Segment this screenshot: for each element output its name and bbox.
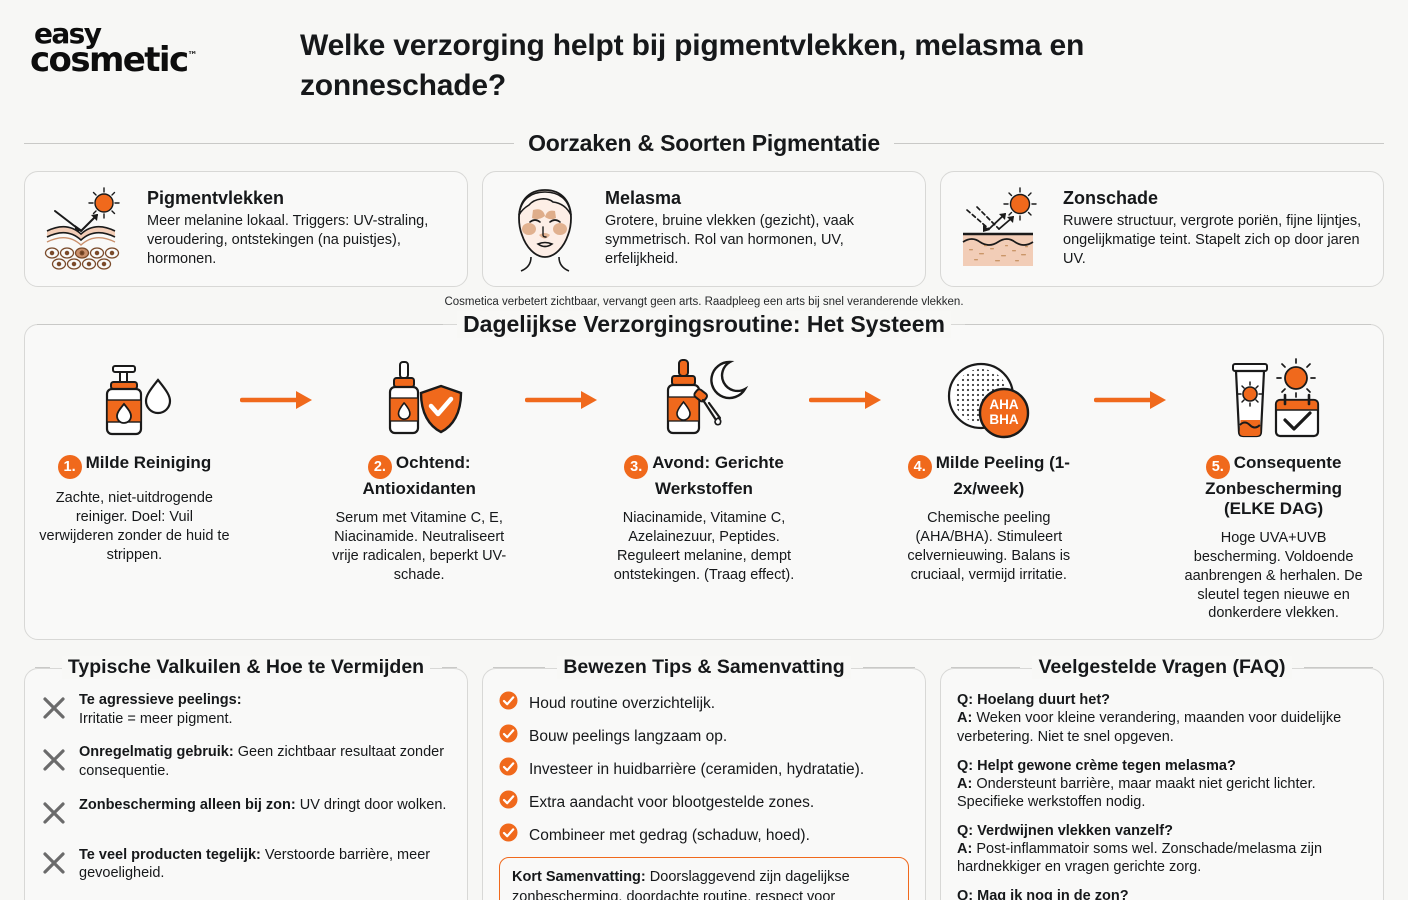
routine-step-title: 5.Consequente Zonbescherming (ELKE DAG) <box>1178 453 1369 519</box>
pitfall-detail: Irritatie = meer pigment. <box>79 711 233 727</box>
step-number-badge: 1. <box>58 455 82 479</box>
step-title-text: Avond: Gerichte Werkstoffen <box>652 453 784 498</box>
cause-description: Grotere, bruine vlekken (gezicht), vaak … <box>605 212 909 269</box>
x-mark-icon <box>41 796 67 831</box>
cause-card-zonschade: Zonschade Ruwere structuur, vergrote por… <box>940 171 1384 287</box>
serum-shield-icon <box>324 357 515 443</box>
pitfall-text: Onregelmatig gebruik: Geen zichtbaar res… <box>79 743 451 780</box>
cleanser-pump-bottle-icon <box>39 357 230 443</box>
faq-answer: A: Ondersteunt barrière, maar maakt niet… <box>957 775 1367 811</box>
cause-card-text: Melasma Grotere, bruine vlekken (gezicht… <box>605 186 909 269</box>
heading-rule-right <box>1304 667 1373 668</box>
cause-title: Melasma <box>605 188 909 209</box>
arrow-right-icon <box>234 357 320 443</box>
routine-heading-label: Dagelijkse Verzorgingsroutine: Het Syste… <box>457 311 951 338</box>
faq-question: Q: Helpt gewone crème tegen melasma? <box>957 757 1367 775</box>
tips-list: Houd routine overzichtelijk.Bouw peeling… <box>499 691 909 847</box>
routine-step-3: 3.Avond: Gerichte Werkstoffen Niacinamid… <box>605 357 804 584</box>
cause-title: Zonschade <box>1063 188 1367 209</box>
faq-item: Q: Hoelang duurt het?A: Weken voor klein… <box>957 691 1367 745</box>
pitfall-label: Te veel producten tegelijk: <box>79 847 261 863</box>
pitfall-text: Zonbescherming alleen bij zon: UV dringt… <box>79 796 446 815</box>
heading-rule-right <box>442 667 457 668</box>
arrow-right-icon <box>1088 357 1174 443</box>
summary-box: Kort Samenvatting: Doorslaggevend zijn d… <box>499 857 909 900</box>
faq-panel: Veelgestelde Vragen (FAQ) Q: Hoelang duu… <box>940 668 1384 900</box>
check-circle-icon <box>499 823 518 847</box>
heading-rule-left <box>35 667 50 668</box>
serum-dropper-moon-icon <box>609 357 800 443</box>
cause-card-melasma: Melasma Grotere, bruine vlekken (gezicht… <box>482 171 926 287</box>
routine-step-4: AHA BHA 4.Milde Peeling (1-2x/week) Chem… <box>889 357 1088 584</box>
routine-step-1: 1.Milde Reiniging Zachte, niet-uitdrogen… <box>35 357 234 564</box>
page-header: easy cosmetic™ Welke verzorging helpt bi… <box>0 0 1408 130</box>
cause-card-pigmentvlekken: Pigmentvlekken Meer melanine lokaal. Tri… <box>24 171 468 287</box>
heading-rule-left <box>24 143 514 144</box>
routine-step-description: Hoge UVA+UVB bescherming. Voldoende aanb… <box>1178 529 1369 623</box>
pitfall-detail: UV dringt door wolken. <box>300 797 447 813</box>
bha-label: BHA <box>989 412 1018 427</box>
tip-item: Investeer in huidbarrière (ceramiden, hy… <box>499 757 909 781</box>
routine-step-description: Serum met Vitamine C, E, Niacinamide. Ne… <box>324 509 515 584</box>
tips-heading: Bewezen Tips & Samenvatting <box>483 656 925 679</box>
cause-description: Meer melanine lokaal. Triggers: UV-stral… <box>147 212 451 269</box>
routine-step-description: Niacinamide, Vitamine C, Azelainezuur, P… <box>609 509 800 584</box>
aha-label: AHA <box>989 397 1018 412</box>
faq-heading-label: Veelgestelde Vragen (FAQ) <box>1032 656 1291 679</box>
tip-text: Houd routine overzichtelijk. <box>529 694 715 713</box>
arrow-right-icon <box>519 357 605 443</box>
pitfalls-panel: Typische Valkuilen & Hoe te Vermijden Te… <box>24 668 468 900</box>
x-mark-icon <box>41 846 67 881</box>
medical-disclaimer: Cosmetica verbetert zichtbaar, vervangt … <box>0 287 1408 308</box>
step-number-badge: 3. <box>624 455 648 479</box>
tip-text: Combineer met gedrag (schaduw, hoed). <box>529 826 810 845</box>
brand-logo-line2: cosmetic™ <box>30 46 280 75</box>
faq-list: Q: Hoelang duurt het?A: Weken voor klein… <box>957 691 1367 900</box>
face-melasma-icon <box>499 186 591 272</box>
step-number-badge: 5. <box>1206 455 1230 479</box>
summary-label: Kort Samenvatting: <box>512 869 646 885</box>
heading-rule-right <box>965 324 1371 325</box>
step-title-text: Milde Peeling (1-2x/week) <box>936 453 1070 498</box>
tip-text: Investeer in huidbarrière (ceramiden, hy… <box>529 760 864 779</box>
check-circle-icon <box>499 757 518 781</box>
causes-card-row: Pigmentvlekken Meer melanine lokaal. Tri… <box>0 171 1408 287</box>
page-title: Welke verzorging helpt bij pigmentvlekke… <box>280 14 1180 105</box>
trademark-symbol: ™ <box>188 51 198 62</box>
causes-heading-label: Oorzaken & Soorten Pigmentatie <box>528 130 880 157</box>
sunscreen-tube-calendar-icon <box>1178 357 1369 443</box>
routine-step-title: 1.Milde Reiniging <box>39 453 230 479</box>
causes-section-heading: Oorzaken & Soorten Pigmentatie <box>24 130 1384 157</box>
skin-layers-sun-icon <box>41 186 133 272</box>
routine-step-2: 2.Ochtend: Antioxidanten Serum met Vitam… <box>320 357 519 584</box>
heading-rule-left <box>493 667 545 668</box>
tip-item: Bouw peelings langzaam op. <box>499 724 909 748</box>
check-circle-icon <box>499 790 518 814</box>
x-mark-icon <box>41 743 67 778</box>
tip-item: Houd routine overzichtelijk. <box>499 691 909 715</box>
bottom-panels-row: Typische Valkuilen & Hoe te Vermijden Te… <box>0 640 1408 900</box>
tip-item: Extra aandacht voor blootgestelde zones. <box>499 790 909 814</box>
faq-question: Q: Hoelang duurt het? <box>957 691 1367 709</box>
routine-step-description: Chemische peeling (AHA/BHA). Stimuleert … <box>893 509 1084 584</box>
faq-answer-lead: A: <box>957 841 972 857</box>
faq-question: Q: Verdwijnen vlekken vanzelf? <box>957 822 1367 840</box>
routine-step-title: 4.Milde Peeling (1-2x/week) <box>893 453 1084 499</box>
pitfall-label: Zonbescherming alleen bij zon: <box>79 797 296 813</box>
tip-text: Bouw peelings langzaam op. <box>529 727 727 746</box>
pitfalls-heading: Typische Valkuilen & Hoe te Vermijden <box>25 656 467 679</box>
pitfalls-heading-label: Typische Valkuilen & Hoe te Vermijden <box>62 656 430 679</box>
faq-item: Q: Helpt gewone crème tegen melasma?A: O… <box>957 757 1367 811</box>
pitfall-item: Onregelmatig gebruik: Geen zichtbaar res… <box>41 743 451 780</box>
routine-step-description: Zachte, niet-uitdrogende reiniger. Doel:… <box>39 489 230 564</box>
faq-answer: A: Post-inflammatoir soms wel. Zonschade… <box>957 840 1367 876</box>
step-title-text: Milde Reiniging <box>86 453 212 472</box>
x-mark-icon <box>41 691 67 726</box>
heading-rule-left <box>37 324 443 325</box>
cause-description: Ruwere structuur, vergrote poriën, fijne… <box>1063 212 1367 269</box>
faq-item: Q: Mag ik nog in de zon?A: Beperk direct… <box>957 887 1367 900</box>
tip-item: Combineer met gedrag (schaduw, hoed). <box>499 823 909 847</box>
step-number-badge: 4. <box>908 455 932 479</box>
step-number-badge: 2. <box>368 455 392 479</box>
faq-answer: A: Weken voor kleine verandering, maande… <box>957 709 1367 745</box>
faq-heading: Veelgestelde Vragen (FAQ) <box>941 656 1383 679</box>
routine-steps-row: 1.Milde Reiniging Zachte, niet-uitdrogen… <box>35 339 1373 623</box>
cause-card-text: Zonschade Ruwere structuur, vergrote por… <box>1063 186 1367 269</box>
arrow-right-icon <box>803 357 889 443</box>
routine-step-5: 5.Consequente Zonbescherming (ELKE DAG) … <box>1174 357 1373 623</box>
pitfall-label: Te agressieve peelings: <box>79 692 242 708</box>
heading-rule-right <box>894 143 1384 144</box>
pitfalls-list: Te agressieve peelings:Irritatie = meer … <box>41 691 451 882</box>
check-circle-icon <box>499 724 518 748</box>
pitfall-text: Te agressieve peelings:Irritatie = meer … <box>79 691 242 728</box>
tip-text: Extra aandacht voor blootgestelde zones. <box>529 793 814 812</box>
heading-rule-right <box>863 667 915 668</box>
exfoliant-pad-aha-bha-icon: AHA BHA <box>893 357 1084 443</box>
faq-item: Q: Verdwijnen vlekken vanzelf?A: Post-in… <box>957 822 1367 876</box>
tips-panel: Bewezen Tips & Samenvatting Houd routine… <box>482 668 926 900</box>
tips-heading-label: Bewezen Tips & Samenvatting <box>557 656 850 679</box>
faq-question: Q: Mag ik nog in de zon? <box>957 887 1367 900</box>
brand-logo: easy cosmetic™ <box>30 14 280 75</box>
check-circle-icon <box>499 691 518 715</box>
routine-panel: Dagelijkse Verzorgingsroutine: Het Syste… <box>24 324 1384 640</box>
routine-step-title: 3.Avond: Gerichte Werkstoffen <box>609 453 800 499</box>
faq-answer-lead: A: <box>957 776 972 792</box>
infographic-page: easy cosmetic™ Welke verzorging helpt bi… <box>0 0 1408 900</box>
sun-damage-skin-icon <box>957 186 1049 272</box>
pitfall-label: Onregelmatig gebruik: <box>79 744 234 760</box>
pitfall-item: Zonbescherming alleen bij zon: UV dringt… <box>41 796 451 831</box>
cause-title: Pigmentvlekken <box>147 188 451 209</box>
routine-section-heading: Dagelijkse Verzorgingsroutine: Het Syste… <box>25 311 1383 338</box>
pitfall-item: Te agressieve peelings:Irritatie = meer … <box>41 691 451 728</box>
routine-step-title: 2.Ochtend: Antioxidanten <box>324 453 515 499</box>
heading-rule-left <box>951 667 1020 668</box>
pitfall-item: Te veel producten tegelijk: Verstoorde b… <box>41 846 451 883</box>
cause-card-text: Pigmentvlekken Meer melanine lokaal. Tri… <box>147 186 451 269</box>
pitfall-text: Te veel producten tegelijk: Verstoorde b… <box>79 846 451 883</box>
faq-answer-lead: A: <box>957 710 972 726</box>
